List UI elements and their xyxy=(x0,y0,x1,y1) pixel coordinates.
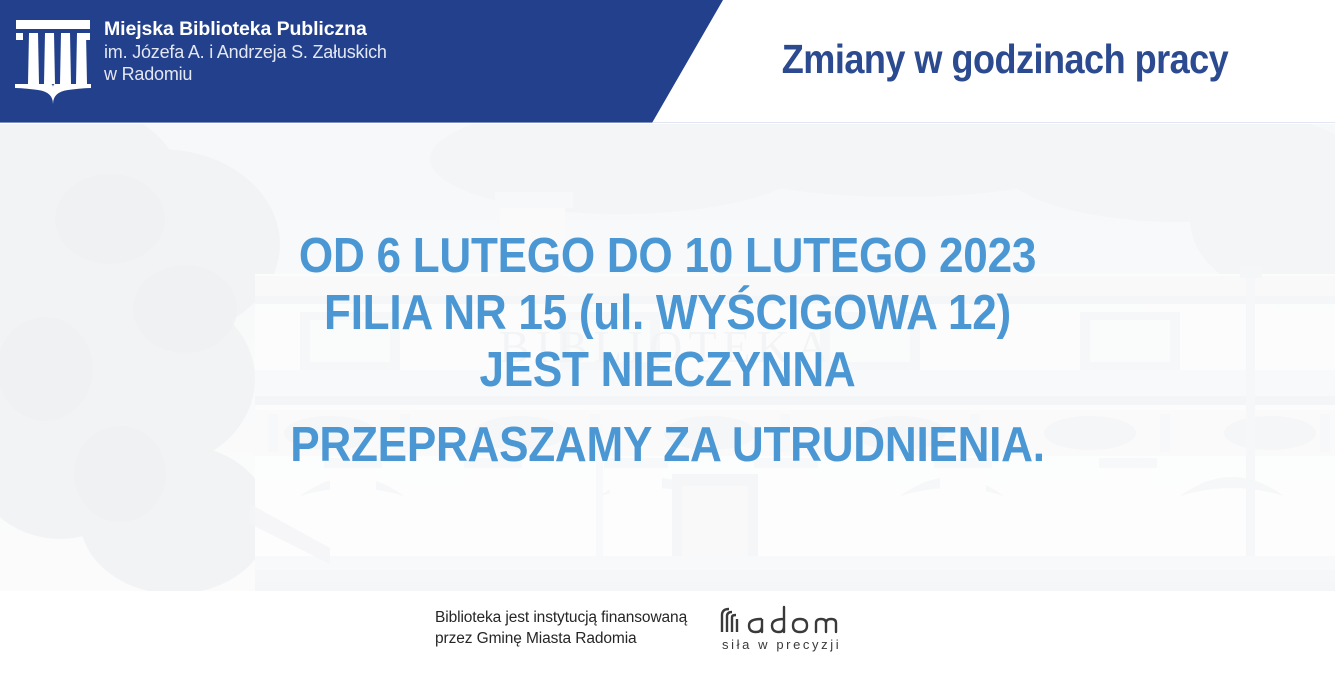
closed-status-line: JEST NIECZYNNA xyxy=(67,342,1269,399)
radom-city-logo: siła w precyzji xyxy=(717,602,867,654)
library-name-city: w Radomiu xyxy=(104,64,434,86)
branch-address-line: FILIA NR 15 (ul. WYŚCIGOWA 12) xyxy=(67,285,1269,342)
announcement-poster: Miejska Biblioteka Publiczna im. Józefa … xyxy=(0,0,1335,677)
funding-line-2: przez Gminę Miasta Radomia xyxy=(435,629,687,650)
library-name-patron: im. Józefa A. i Andrzeja S. Załuskich xyxy=(104,42,434,64)
funding-statement: Biblioteka jest instytucją finansowaną p… xyxy=(435,608,687,649)
poster-footer: Biblioteka jest instytucją finansowaną p… xyxy=(0,591,1335,677)
page-title: Zmiany w godzinach pracy xyxy=(737,36,1274,83)
library-columns-book-icon xyxy=(12,18,94,106)
library-logo-text: Miejska Biblioteka Publiczna im. Józefa … xyxy=(104,18,434,86)
closure-dates-line: OD 6 LUTEGO DO 10 LUTEGO 2023 xyxy=(67,228,1269,285)
message-spacer xyxy=(67,399,1269,417)
library-name-primary: Miejska Biblioteka Publiczna xyxy=(104,18,434,42)
poster-header: Miejska Biblioteka Publiczna im. Józefa … xyxy=(0,0,1335,123)
closure-message: OD 6 LUTEGO DO 10 LUTEGO 2023 FILIA NR 1… xyxy=(67,228,1269,474)
svg-text:siła w precyzji: siła w precyzji xyxy=(722,637,841,652)
apology-line: PRZEPRASZAMY ZA UTRUDNIENIA. xyxy=(67,417,1269,474)
funding-line-1: Biblioteka jest instytucją finansowaną xyxy=(435,608,687,629)
header-divider xyxy=(0,122,1335,123)
